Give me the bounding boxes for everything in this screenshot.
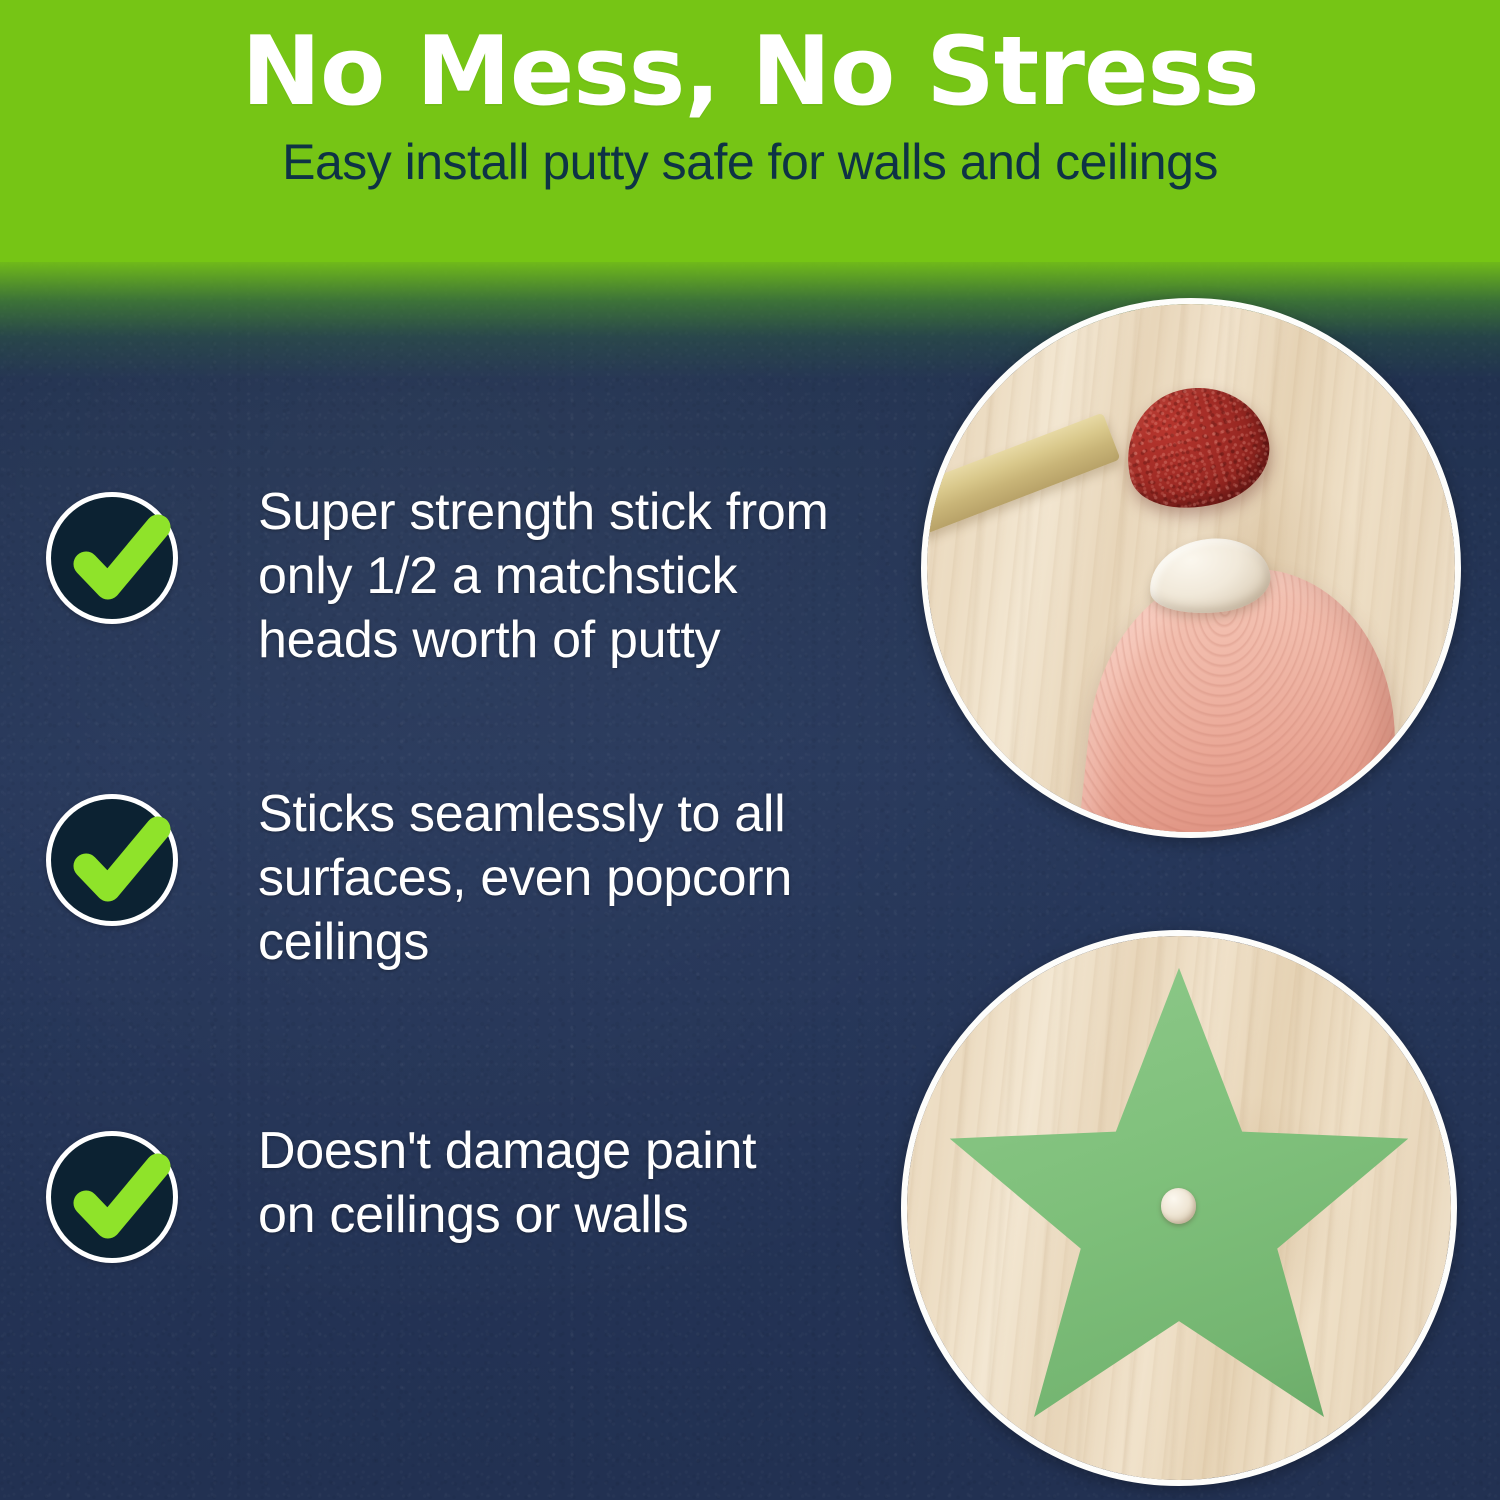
checkmark-icon [42,790,190,938]
page-title: No Mess, No Stress [241,24,1258,121]
checkmark-icon [42,488,190,636]
checkmark-icon [42,1127,190,1275]
putty-dot [1161,1188,1197,1224]
benefits-list: Super strength stick from only 1/2 a mat… [0,262,880,1500]
check-circle-icon [42,790,190,938]
star-decoration-photo [901,930,1457,1486]
product-infographic: No Mess, No Stress Easy install putty sa… [0,0,1500,1500]
check-circle-icon [42,488,190,636]
header-banner: No Mess, No Stress Easy install putty sa… [0,0,1500,262]
list-item-label: Super strength stick from only 1/2 a mat… [258,480,829,672]
list-item: Doesn't damage paint on ceilings or wall… [42,1123,756,1275]
list-item-label: Sticks seamlessly to all surfaces, even … [258,782,792,974]
list-item-label: Doesn't damage paint on ceilings or wall… [258,1119,756,1247]
matchstick-putty-photo [921,298,1461,838]
list-item: Super strength stick from only 1/2 a mat… [42,484,829,672]
check-circle-icon [42,1127,190,1275]
list-item: Sticks seamlessly to all surfaces, even … [42,786,792,974]
page-subtitle: Easy install putty safe for walls and ce… [282,137,1218,187]
